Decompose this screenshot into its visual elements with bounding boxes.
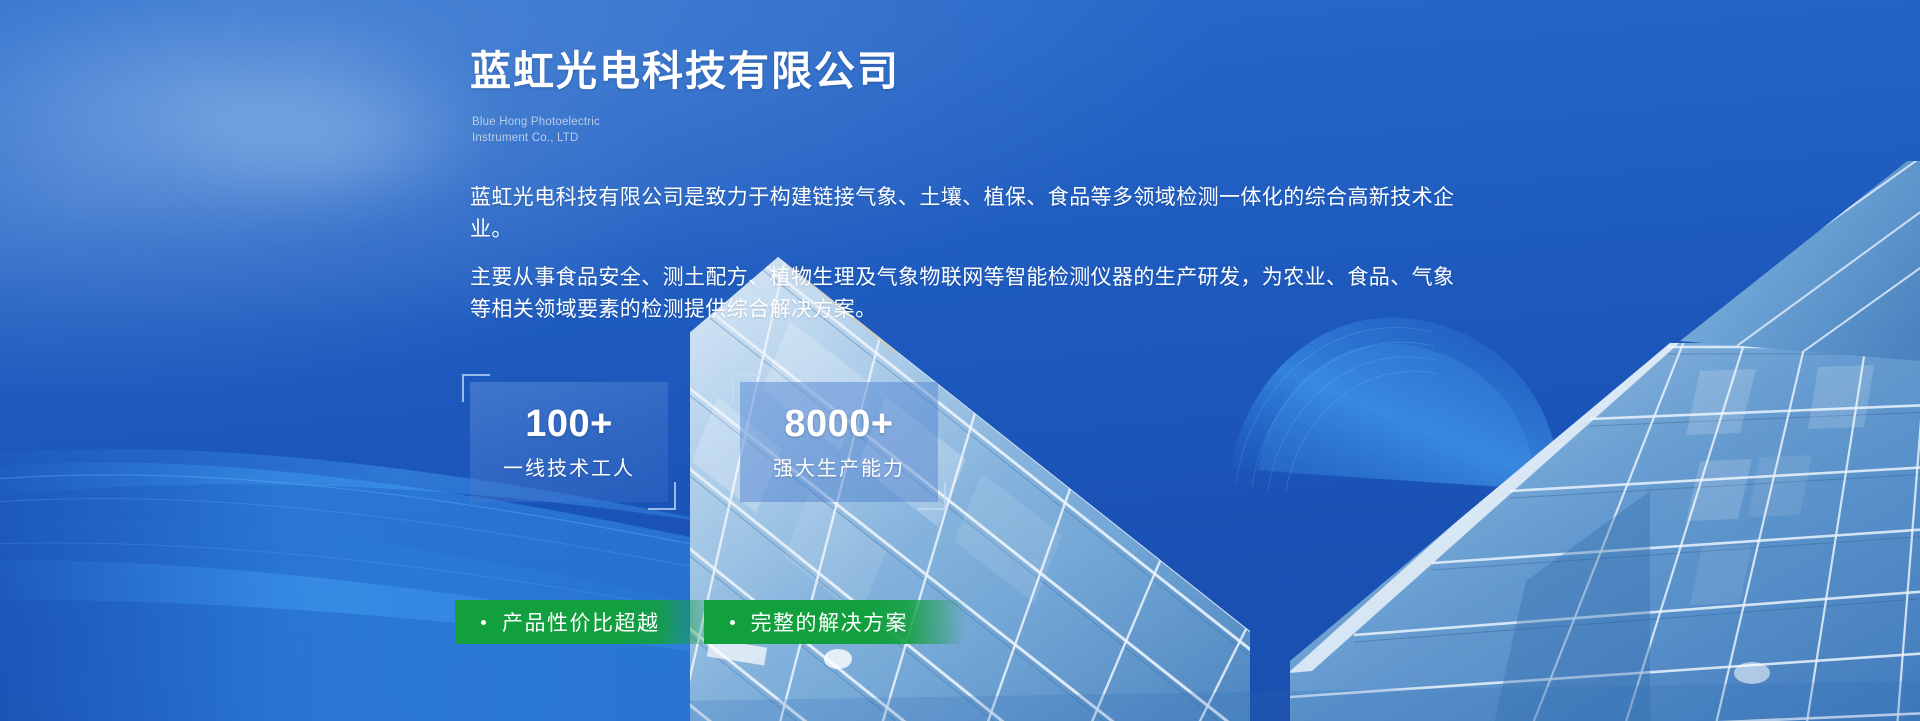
bullet-dot-icon	[481, 620, 486, 625]
stat-label: 一线技术工人	[503, 459, 635, 479]
feature-tag-value[interactable]: 产品性价比超越	[455, 600, 718, 644]
stat-card-capacity: 8000+ 强大生产能力	[740, 382, 938, 502]
stat-card-workers: 100+ 一线技术工人	[470, 382, 668, 502]
feature-tag-label: 完整的解决方案	[751, 607, 909, 637]
feature-tag-label: 产品性价比超越	[502, 607, 660, 637]
page-title: 蓝虹光电科技有限公司	[470, 48, 900, 95]
bullet-dot-icon	[730, 620, 735, 625]
feature-tag-solution[interactable]: 完整的解决方案	[704, 600, 967, 644]
stat-value: 100+	[525, 405, 613, 443]
company-name-english-line1: Blue Hong Photoelectric	[472, 114, 600, 130]
statistics-group: 100+ 一线技术工人 8000+ 强大生产能力	[470, 382, 1010, 502]
hero-content: 蓝虹光电科技有限公司 Blue Hong Photoelectric Instr…	[470, 0, 1890, 721]
company-name-english-line2: Instrument Co., LTD	[472, 130, 600, 146]
stat-value: 8000+	[784, 405, 893, 443]
description-paragraph-2: 主要从事食品安全、测土配方、植物生理及气象物联网等智能检测仪器的生产研发，为农业…	[470, 262, 1455, 326]
description-paragraph-1: 蓝虹光电科技有限公司是致力于构建链接气象、土壤、植保、食品等多领域检测一体化的综…	[470, 182, 1455, 246]
company-name-english: Blue Hong Photoelectric Instrument Co., …	[472, 114, 600, 147]
feature-tag-group: 产品性价比超越 完整的解决方案	[455, 600, 966, 644]
company-hero-banner: 蓝虹光电科技有限公司 Blue Hong Photoelectric Instr…	[0, 0, 1920, 721]
stat-label: 强大生产能力	[773, 459, 905, 479]
